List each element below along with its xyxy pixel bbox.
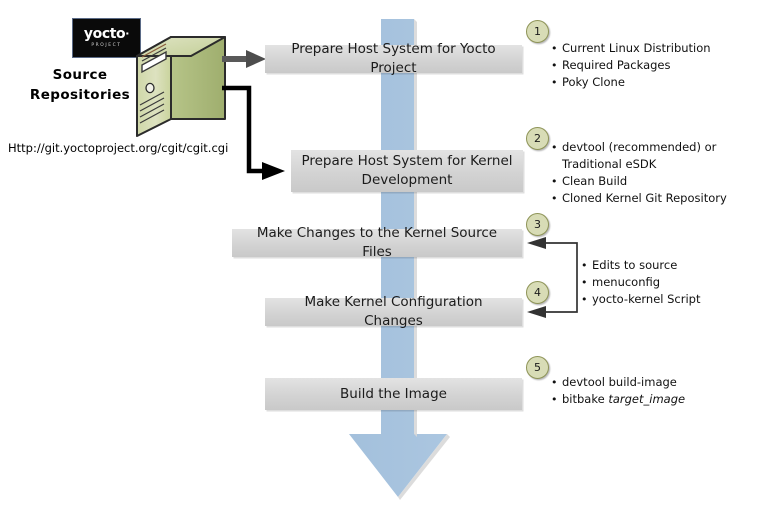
bitbake-command-prefix: bitbake xyxy=(562,392,608,406)
list-item: Edits to source xyxy=(581,257,701,274)
step-5-bullet-list: devtool build-image bitbake target_image xyxy=(551,374,685,408)
list-item: Cloned Kernel Git Repository xyxy=(551,190,721,207)
list-item: yocto-kernel Script xyxy=(581,291,701,308)
list-item: devtool build-image xyxy=(551,374,685,391)
list-item: menuconfig xyxy=(581,274,701,291)
step-number-5: 5 xyxy=(526,356,549,379)
list-item: Poky Clone xyxy=(551,74,711,91)
process-box-make-config-changes[interactable]: Make Kernel Configuration Changes xyxy=(265,298,522,326)
logo-wordmark: yocto· xyxy=(84,27,129,41)
list-item: devtool (recommended) or Traditional eSD… xyxy=(551,139,721,173)
step-1-bullet-list: Current Linux Distribution Required Pack… xyxy=(551,40,711,91)
steps-3-4-shared-bullet-list: Edits to source menuconfig yocto-kernel … xyxy=(581,257,701,308)
list-item: bitbake target_image xyxy=(551,391,685,408)
step-2-bullet-list: devtool (recommended) or Traditional eSD… xyxy=(551,139,721,207)
step-number-4: 4 xyxy=(526,281,549,304)
yocto-project-logo: yocto· PROJECT xyxy=(72,18,141,58)
logo-subtitle: PROJECT xyxy=(91,42,121,50)
step-number-3: 3 xyxy=(526,213,549,236)
list-item: Clean Build xyxy=(551,173,721,190)
step-number-2: 2 xyxy=(526,127,549,150)
source-repositories-url: Http://git.yoctoproject.org/cgit/cgit.cg… xyxy=(8,141,228,155)
list-item: Current Linux Distribution xyxy=(551,40,711,57)
process-box-make-source-changes[interactable]: Make Changes to the Kernel Source Files xyxy=(232,229,522,257)
process-box-build-image[interactable]: Build the Image xyxy=(265,378,522,410)
process-box-prepare-host-yocto[interactable]: Prepare Host System for Yocto Project xyxy=(265,45,522,73)
bitbake-target-variable: target_image xyxy=(608,392,685,406)
list-item: Required Packages xyxy=(551,57,711,74)
server-tower-icon xyxy=(133,31,229,141)
diagram-canvas: yocto· PROJECT Source Repositories Http:… xyxy=(0,0,769,517)
step-number-1: 1 xyxy=(526,20,549,43)
process-box-prepare-host-kernel[interactable]: Prepare Host System for Kernel Developme… xyxy=(291,150,523,192)
